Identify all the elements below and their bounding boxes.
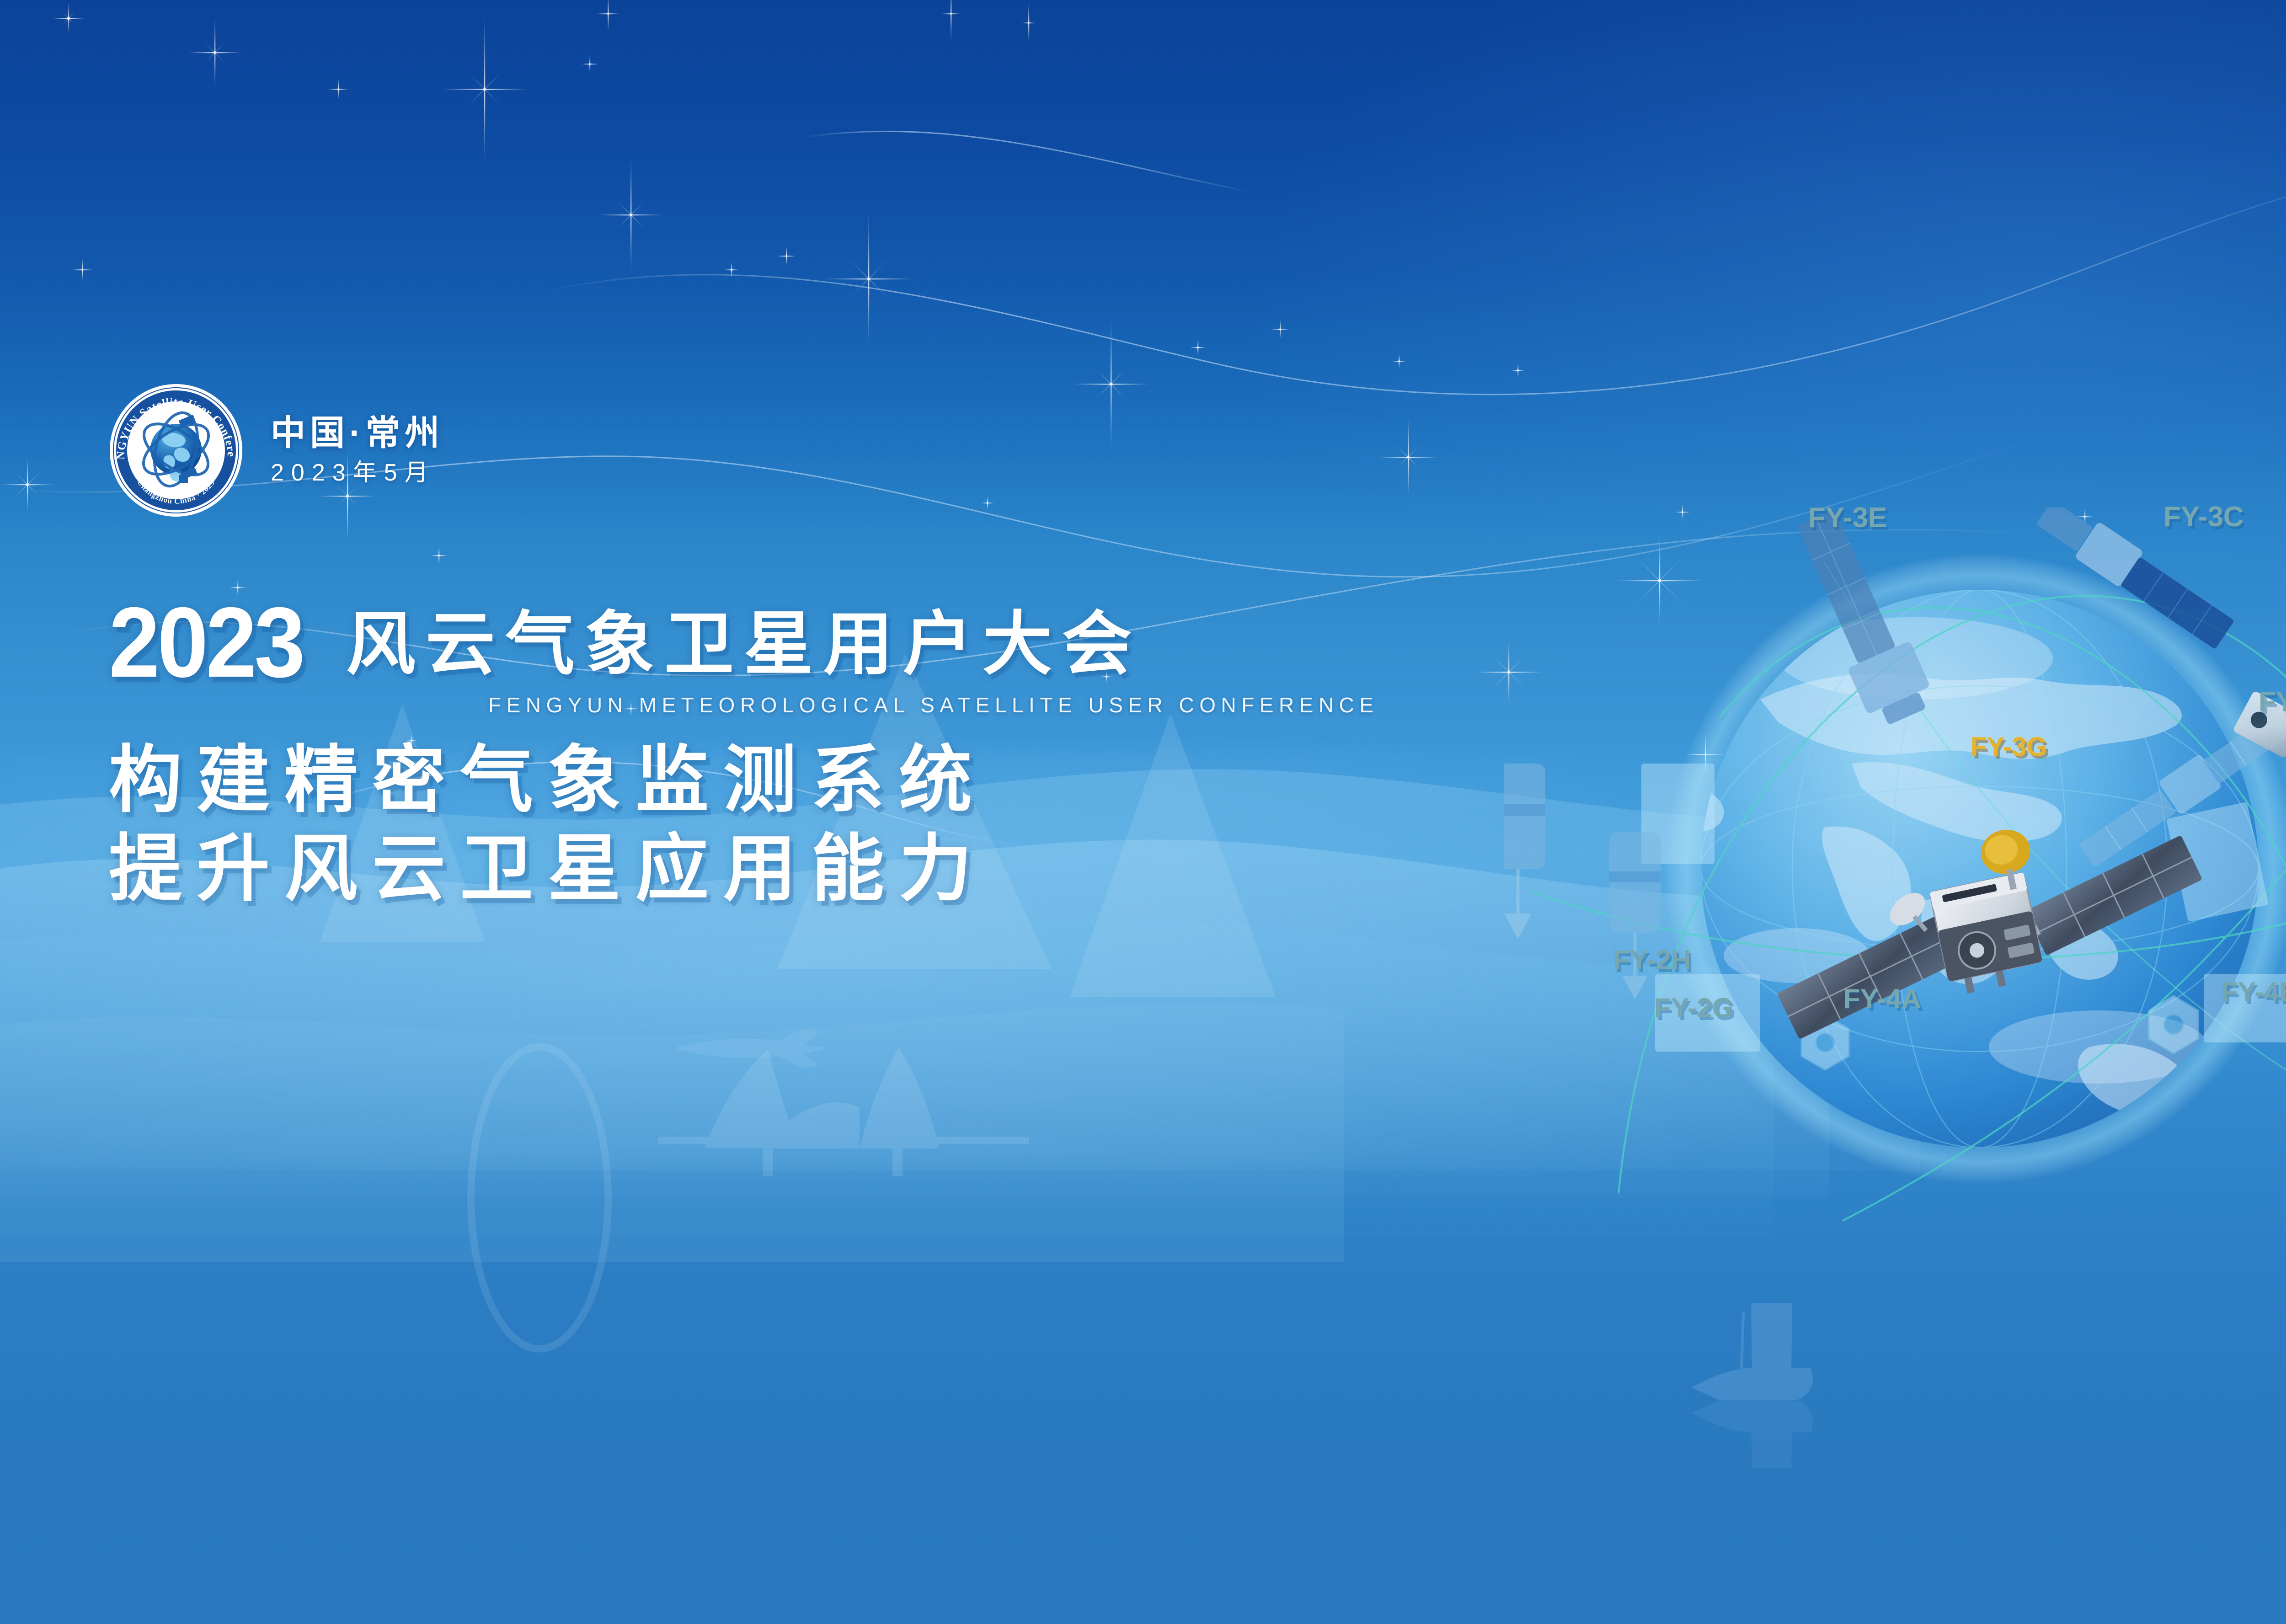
satellite-fy2g (1609, 832, 1661, 999)
satellite-fy3g (1777, 825, 2203, 1040)
satellite-label-fy-2h: FY-2H (1613, 946, 1691, 974)
host-city: 中国·常州 (271, 416, 444, 451)
year-number: 2023 (109, 600, 303, 685)
satellite-fy4b (2233, 690, 2286, 814)
satellite-label-fy-3c: FY-3C (2163, 503, 2244, 531)
poster-header: FENGYUN Satellite User Conference Changz… (110, 384, 444, 517)
top-right-glow (1234, 0, 2286, 763)
satellite-fy3d (2075, 699, 2286, 871)
conference-name-cn: 风云气象卫星用户大会 (346, 609, 1142, 685)
event-date: 2023年5月 (271, 461, 444, 485)
satellite-label-fy-3g: FY-3G (1971, 734, 2047, 760)
satellite-label-fy-4b: FY-4B (2221, 978, 2286, 1006)
svg-text:Changzhou China · 2023: Changzhou China · 2023 (136, 478, 216, 506)
changzhou-skyline-silhouette (658, 1048, 1029, 1176)
sailboat-silhouette (1692, 1303, 1813, 1400)
title-block: 2023 风云气象卫星用户大会 FENGYUN METEOROLOGICAL S… (109, 600, 1379, 911)
conference-emblem-icon: FENGYUN Satellite User Conference Changz… (110, 384, 242, 517)
satellite-label-fy-3e: FY-3E (1808, 504, 1887, 532)
satellite-fy3e (1786, 507, 1938, 731)
satellite-label-fy-3d: FY-3D (2259, 688, 2286, 716)
globe-scene (1504, 507, 2286, 1285)
satellite-fy3c (2033, 507, 2238, 652)
satellite-label-fy-4a: FY-4A (1843, 985, 1921, 1013)
conference-poster: FY-3EFY-3CFY-3DFY-3GFY-2HFY-2GFY-4AFY-4B (0, 0, 2286, 1624)
slogan-line-2: 提升风云卫星应用能力 (109, 826, 1379, 911)
slogan-line-1: 构建精密气象监测系统 (109, 737, 1379, 823)
satellite-fy2h (1504, 764, 1545, 939)
satellite-label-fy-2g: FY-2G (1654, 994, 1733, 1022)
conference-name-en: FENGYUN METEOROLOGICAL SATELLITE USER CO… (488, 693, 1379, 717)
